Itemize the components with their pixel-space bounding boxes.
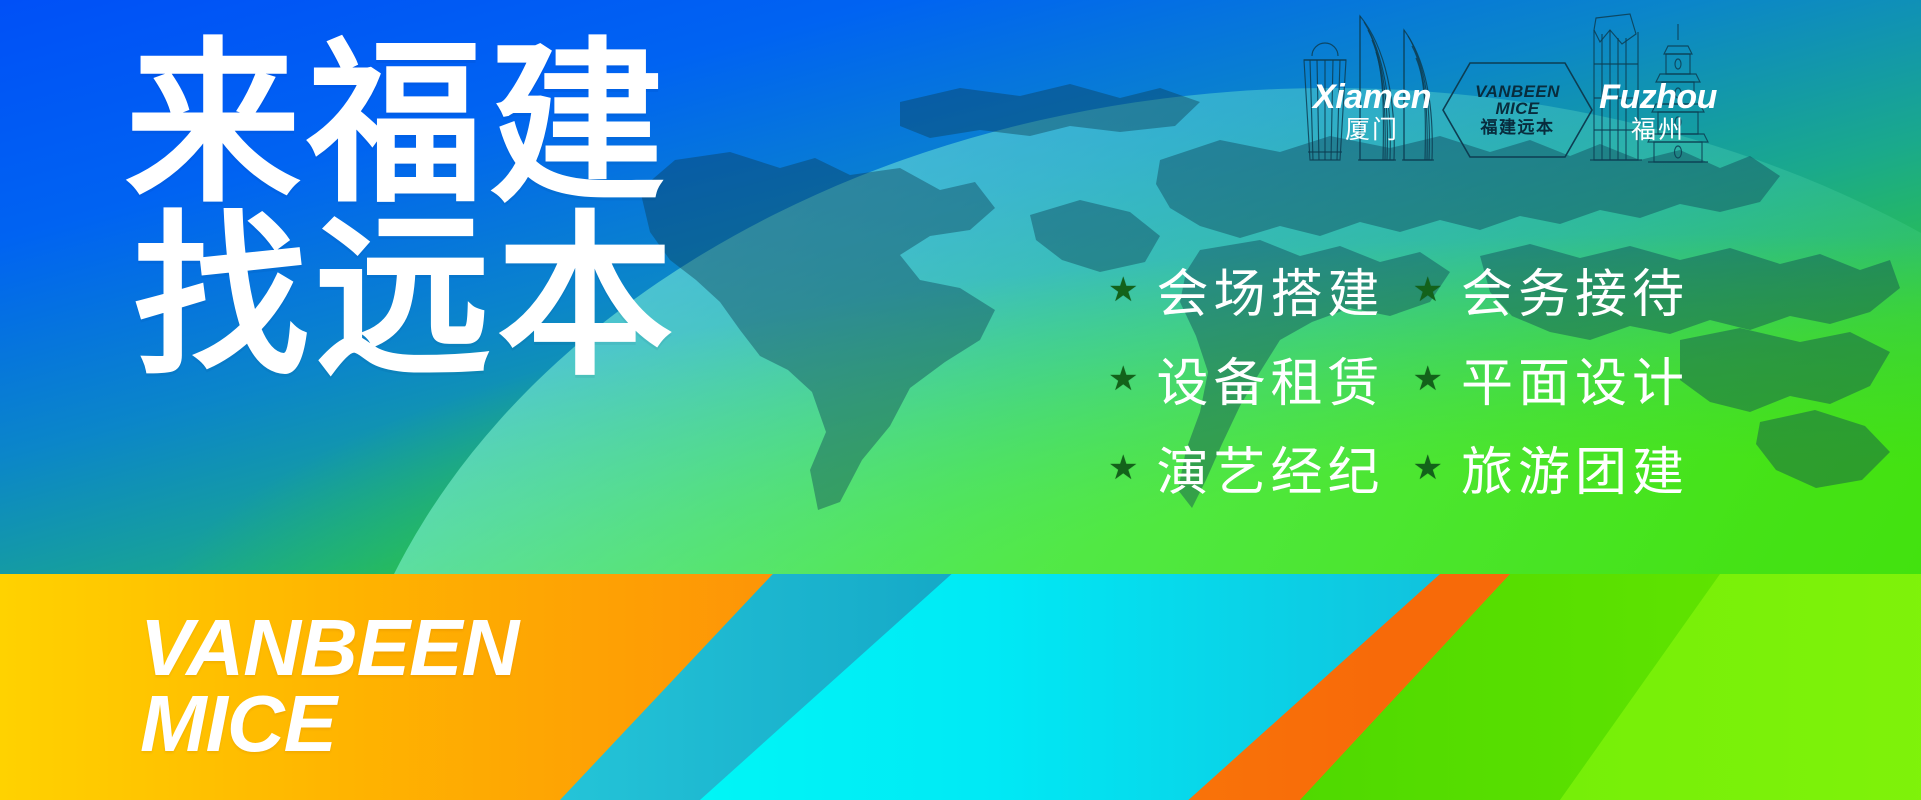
badge-line-2: MICE <box>1495 100 1539 117</box>
hero-section: 来福建 找远本 ★ 会场搭建 ★ 会务接待 ★ 设备租赁 ★ 平面设计 ★ <box>0 0 1921 574</box>
service-item-4[interactable]: ★ 演艺经纪 <box>1108 430 1385 505</box>
wordmark-line-2: MICE <box>140 686 518 762</box>
headline-line-1: 来福建 <box>125 38 679 211</box>
service-label: 平面设计 <box>1461 341 1689 416</box>
service-list: ★ 会场搭建 ★ 会务接待 ★ 设备租赁 ★ 平面设计 ★ 演艺经纪 ★ 旅游团… <box>1108 252 1689 505</box>
star-icon: ★ <box>1108 273 1138 307</box>
brand-wordmark: VANBEEN MICE <box>140 610 518 762</box>
service-label: 会务接待 <box>1461 252 1689 327</box>
star-icon: ★ <box>1108 362 1138 396</box>
service-label: 演艺经纪 <box>1156 430 1384 505</box>
service-item-3[interactable]: ★ 平面设计 <box>1413 341 1690 416</box>
wordmark-line-1: VANBEEN <box>140 610 518 686</box>
star-icon: ★ <box>1413 451 1443 485</box>
star-icon: ★ <box>1413 273 1443 307</box>
star-icon: ★ <box>1413 362 1443 396</box>
brand-hexagon-badge[interactable]: VANBEEN MICE 福建远本 <box>1440 60 1595 160</box>
headline-line-2: 找远本 <box>133 211 679 384</box>
page-title: 来福建 找远本 <box>125 38 679 385</box>
badge-line-3: 福建远本 <box>1481 120 1555 137</box>
service-item-2[interactable]: ★ 设备租赁 <box>1108 341 1385 416</box>
service-label: 旅游团建 <box>1461 430 1689 505</box>
service-item-0[interactable]: ★ 会场搭建 <box>1108 252 1385 327</box>
badge-line-1: VANBEEN <box>1475 83 1560 100</box>
service-item-5[interactable]: ★ 旅游团建 <box>1413 430 1690 505</box>
service-label: 设备租赁 <box>1156 341 1384 416</box>
service-item-1[interactable]: ★ 会务接待 <box>1413 252 1690 327</box>
service-label: 会场搭建 <box>1156 252 1384 327</box>
promo-banner: 来福建 找远本 ★ 会场搭建 ★ 会务接待 ★ 设备租赁 ★ 平面设计 ★ <box>0 0 1921 800</box>
footer-bar: VANBEEN MICE <box>0 574 1921 800</box>
star-icon: ★ <box>1108 451 1138 485</box>
city-landmark-cluster: Xiamen 厦门 Fuzhou 福州 VANBEEN MICE 福建远本 <box>1300 8 1730 188</box>
